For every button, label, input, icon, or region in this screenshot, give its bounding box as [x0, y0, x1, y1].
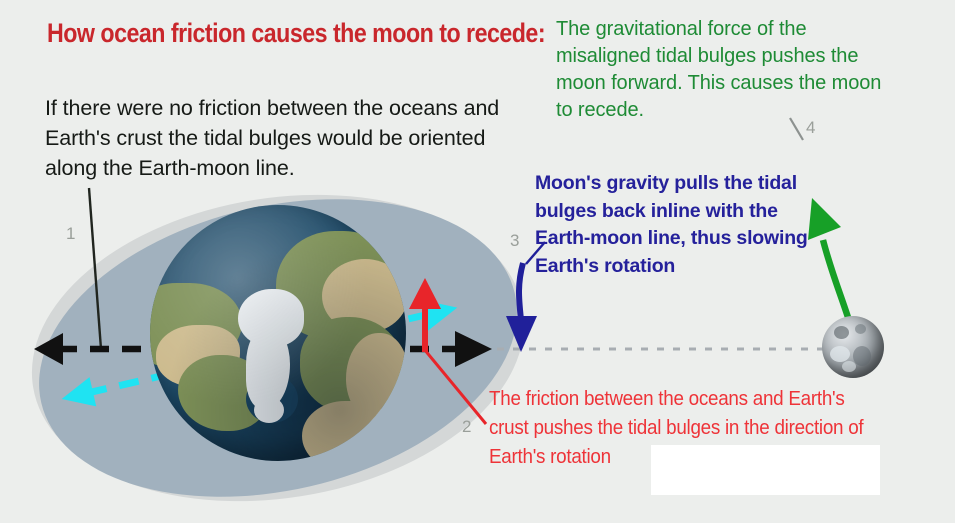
moon-crater	[834, 326, 849, 339]
earth-shading	[150, 205, 406, 461]
moon-highland	[830, 346, 850, 362]
moon-gravity-annotation: Moon's gravity pulls the tidal bulges ba…	[535, 170, 835, 280]
gravity-arrow-shaft	[519, 263, 523, 320]
moon-highland	[842, 361, 856, 372]
diagram-canvas: How ocean friction causes the moon to re…	[0, 0, 955, 523]
callout-number-1: 1	[66, 224, 75, 244]
callout-number-2: 2	[462, 417, 471, 437]
page-title: How ocean friction causes the moon to re…	[47, 18, 494, 49]
moon-crater	[855, 324, 866, 334]
recede-annotation: The gravitational force of the misaligne…	[556, 16, 896, 124]
white-overlay-box	[651, 445, 880, 495]
intro-annotation: If there were no friction between the oc…	[45, 93, 537, 183]
moon-crater	[853, 346, 871, 366]
callout-number-4: 4	[806, 118, 815, 138]
earth-globe	[150, 205, 406, 461]
callout-number-3: 3	[510, 231, 519, 251]
moon	[822, 316, 884, 378]
